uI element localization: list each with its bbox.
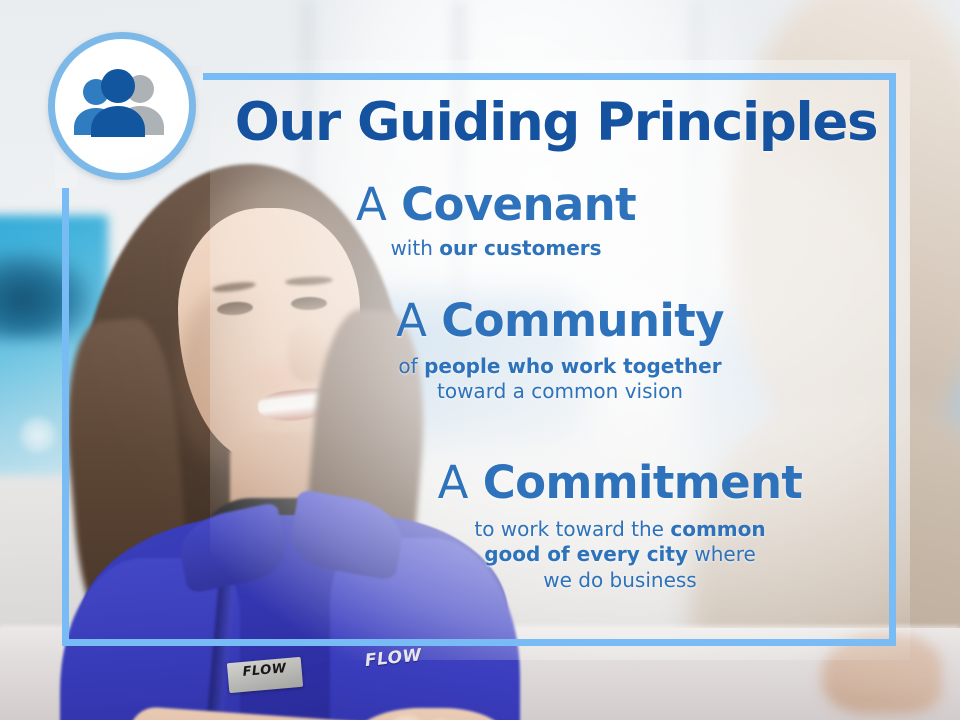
principle-keyword: Community [441, 294, 724, 347]
subtext-part-bold: our customers [439, 236, 601, 260]
principle-heading: A Commitment [360, 460, 880, 507]
principle-heading: A Covenant [236, 182, 756, 229]
principle-subtext: of people who work together toward a com… [300, 354, 820, 405]
subtext-part: to work toward the [474, 517, 670, 541]
blurred-customer-hand [822, 634, 942, 714]
flow-name-badge: FLOW [227, 657, 303, 693]
principle-commitment: A Commitment to work toward the common g… [360, 460, 880, 594]
subtext-part-bold: common [670, 517, 765, 541]
people-group-icon [70, 67, 174, 145]
principle-keyword: Covenant [401, 178, 636, 231]
principle-article: A [438, 456, 483, 509]
principle-subtext: to work toward the common good of every … [360, 517, 880, 594]
principle-keyword: Commitment [483, 456, 803, 509]
subtext-part-bold: good of every city [484, 542, 688, 566]
principle-community: A Community of people who work together … [300, 298, 820, 405]
principle-article: A [396, 294, 441, 347]
subtext-part: with [390, 236, 439, 260]
page-title: Our Guiding Principles [216, 96, 896, 150]
flow-name-badge-text: FLOW [242, 661, 287, 680]
principle-heading: A Community [300, 298, 820, 345]
principle-covenant: A Covenant with our customers [236, 182, 756, 261]
subtext-part: where [688, 542, 756, 566]
principle-article: A [356, 178, 401, 231]
subtext-part: we do business [543, 568, 696, 592]
poster-logo [18, 415, 58, 455]
guiding-principles-banner: FLOW FLOW [0, 0, 960, 720]
principle-subtext: with our customers [236, 236, 756, 262]
subtext-part: of [398, 354, 424, 378]
people-group-badge [48, 32, 196, 180]
subtext-part-bold: people who work together [424, 354, 722, 378]
subtext-part: toward a common vision [437, 379, 683, 403]
